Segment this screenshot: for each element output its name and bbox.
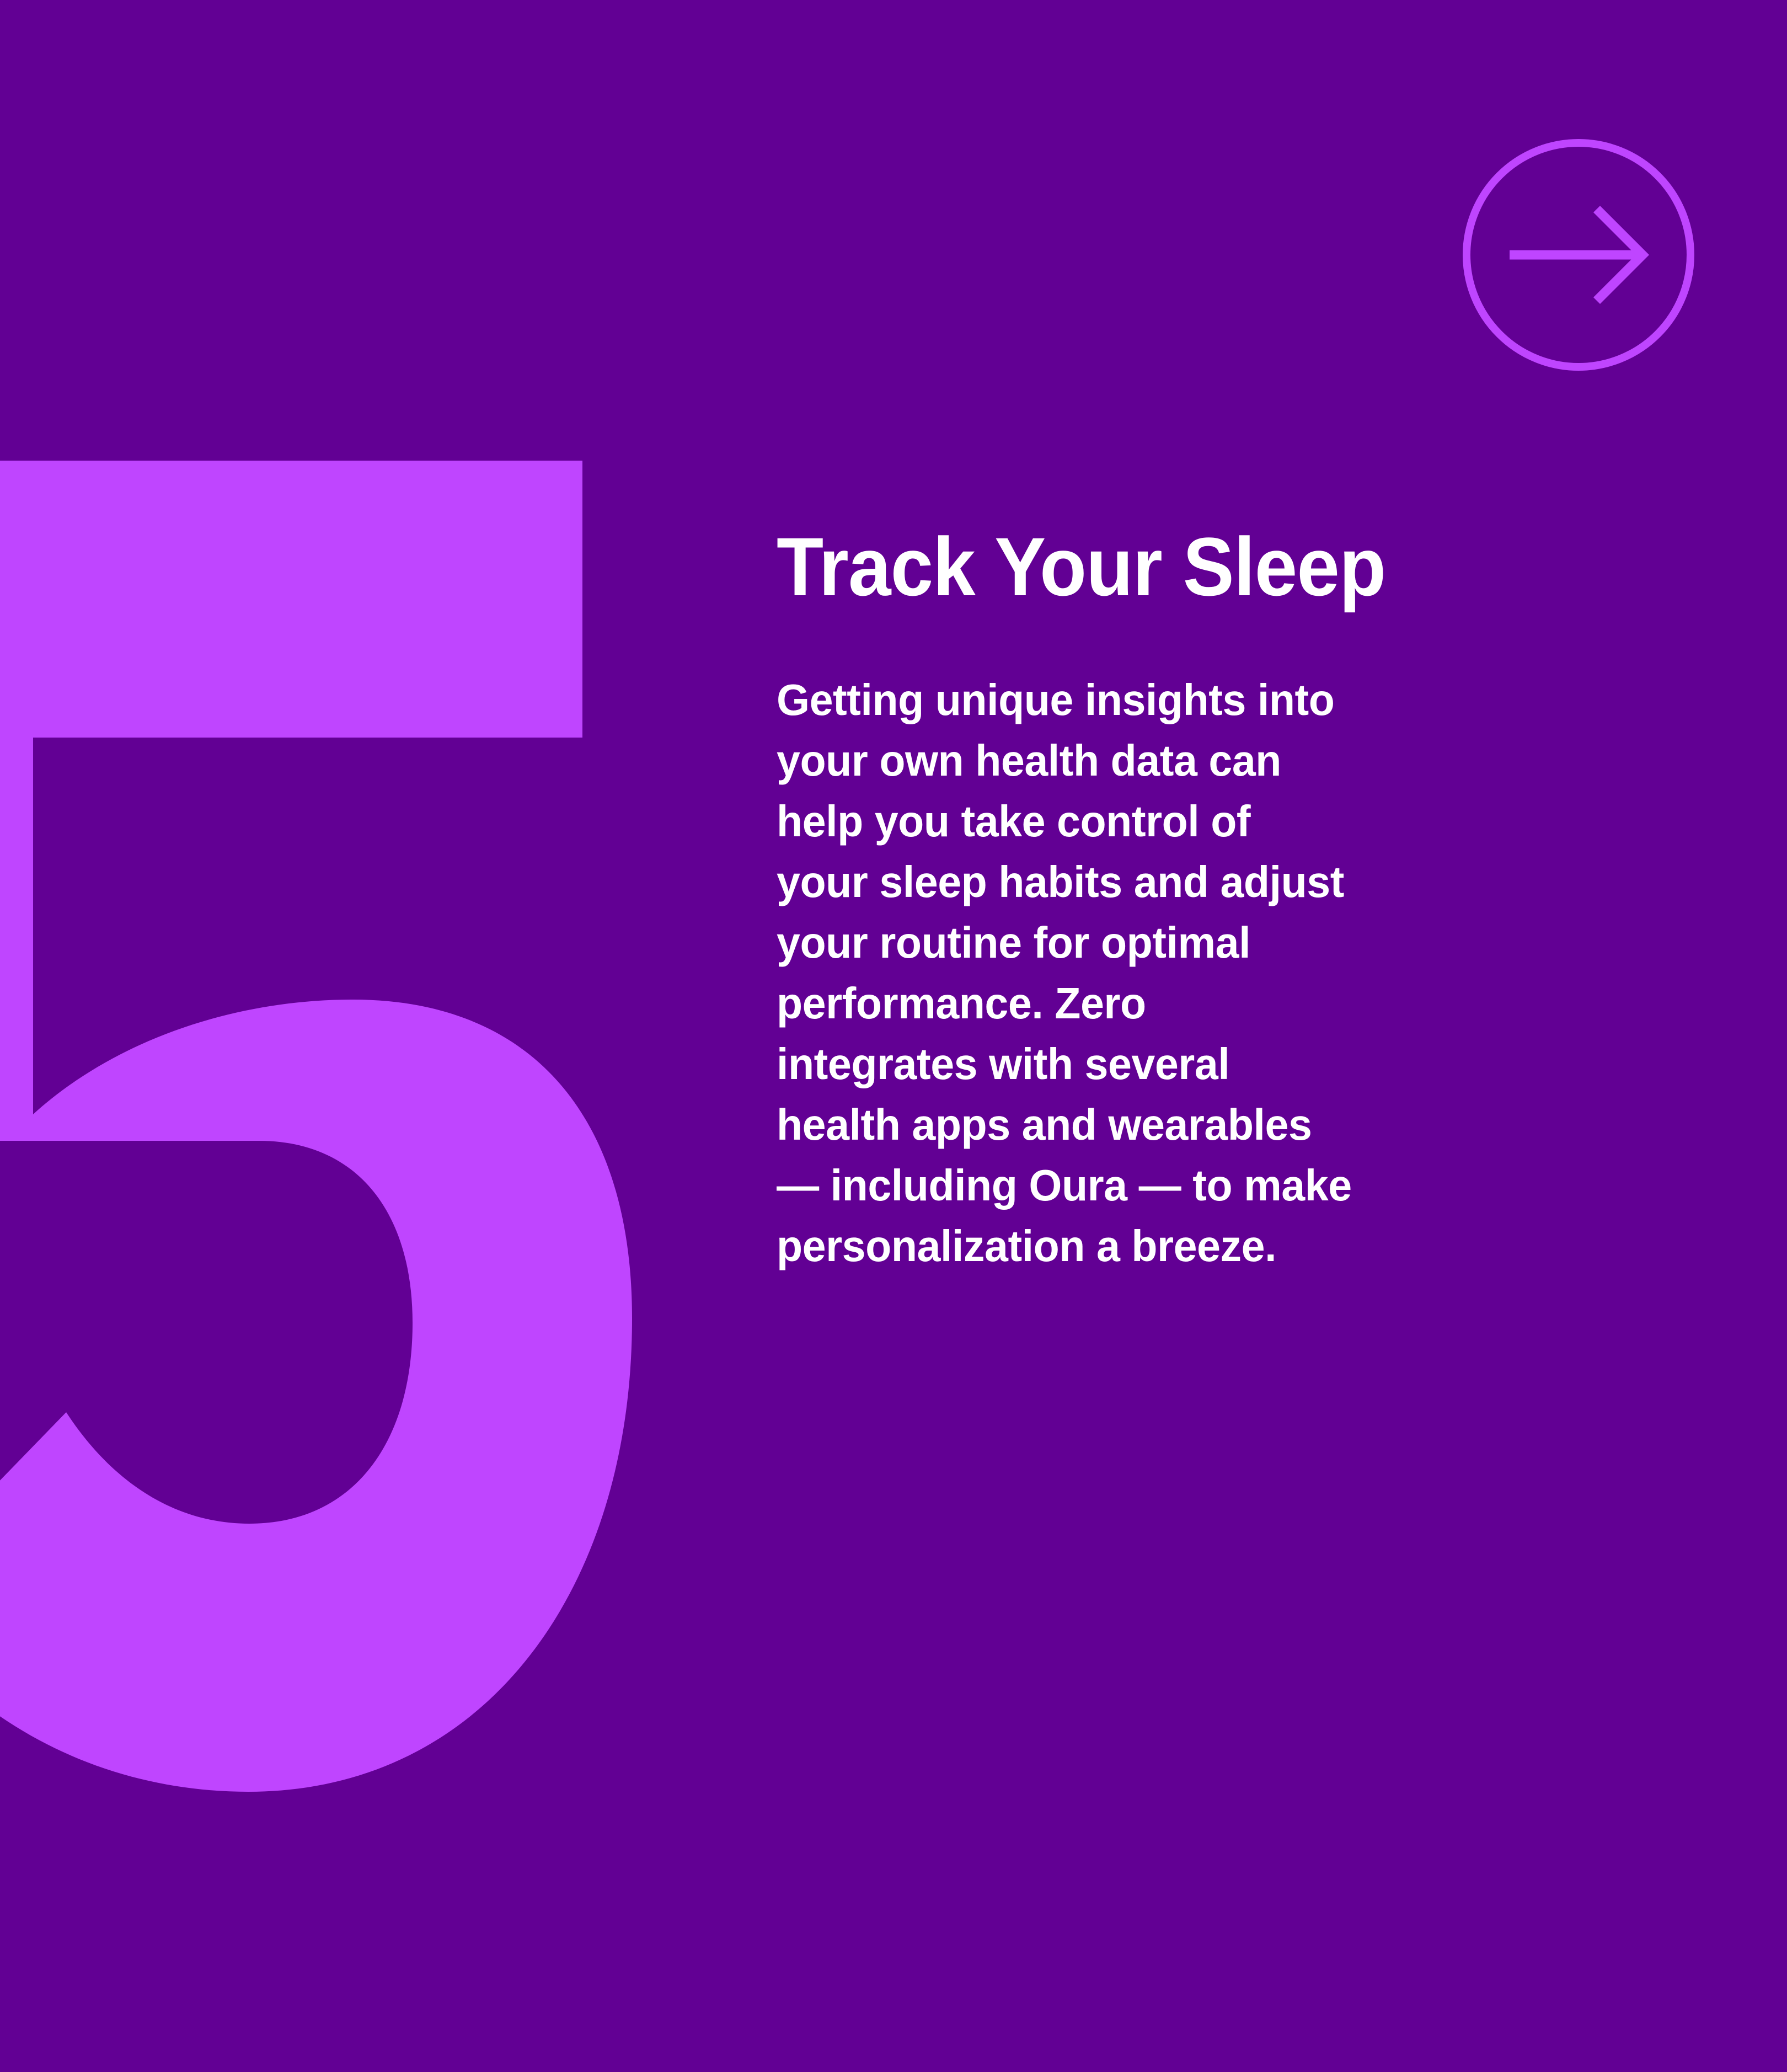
body-line: Getting unique insights into (777, 670, 1650, 730)
body-line: your own health data can (777, 730, 1650, 791)
body-line: personalization a breeze. (777, 1216, 1650, 1277)
body-line: your routine for optimal (777, 912, 1650, 973)
body-line: help you take control of (777, 791, 1650, 852)
slide-text-column: Track Your Sleep Getting unique insights… (777, 525, 1681, 1277)
body-line: integrates with several (777, 1034, 1650, 1094)
numeral-five-shape (0, 461, 632, 1792)
body-line: health apps and wearables (777, 1094, 1650, 1155)
body-line: — including Oura — to make (777, 1155, 1650, 1216)
step-number-graphic (0, 0, 772, 2072)
promo-slide: Track Your Sleep Getting unique insights… (0, 0, 1787, 2072)
body-paragraph: Getting unique insights into your own he… (777, 608, 1650, 1277)
arrow-right-icon (1510, 209, 1642, 301)
next-arrow-button[interactable] (1459, 136, 1698, 374)
body-line: your sleep habits and adjust (777, 852, 1650, 912)
body-line: performance. Zero (777, 973, 1650, 1034)
page-title: Track Your Sleep (777, 525, 1618, 608)
